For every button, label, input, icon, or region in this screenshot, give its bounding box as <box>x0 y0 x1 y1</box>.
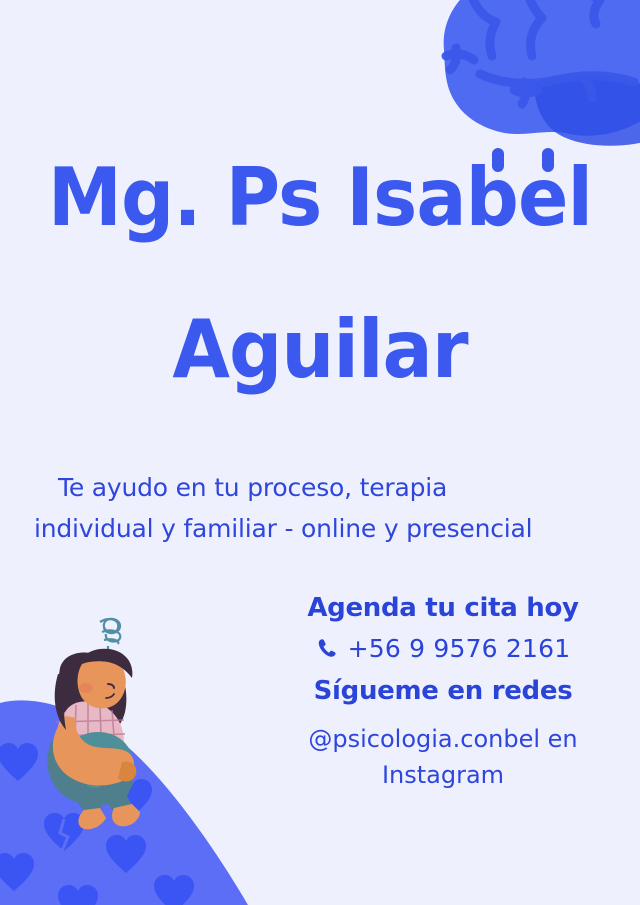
brain-illustration <box>384 0 640 172</box>
seated-woman-illustration <box>22 612 190 842</box>
contact-block: Agenda tu cita hoy +56 9 9576 2161 Sígue… <box>258 594 628 793</box>
title-line-2: Aguilar <box>22 310 617 390</box>
appointment-heading: Agenda tu cita hoy <box>258 594 628 624</box>
subtitle-line-2: individual y familiar - online y presenc… <box>34 509 606 550</box>
phone-row[interactable]: +56 9 9576 2161 <box>258 634 628 663</box>
poster-canvas: Mg. Ps Isabel Aguilar Te ayudo en tu pro… <box>0 0 640 905</box>
phone-icon <box>316 637 338 659</box>
subtitle: Te ayudo en tu proceso, terapia individu… <box>34 468 606 549</box>
title-line-1: Mg. Ps Isabel <box>22 158 617 238</box>
phone-number: +56 9 9576 2161 <box>348 634 571 663</box>
instagram-handle[interactable]: @psicologia.conbel en Instagram <box>258 721 628 793</box>
social-heading: Sígueme en redes <box>258 677 628 707</box>
handle-line-1: @psicologia.conbel en <box>258 721 628 757</box>
subtitle-line-1: Te ayudo en tu proceso, terapia <box>34 468 606 509</box>
thought-scribble <box>100 619 120 656</box>
handle-line-2: Instagram <box>258 757 628 793</box>
hill-shape <box>0 687 262 905</box>
page-title: Mg. Ps Isabel Aguilar <box>0 158 640 390</box>
